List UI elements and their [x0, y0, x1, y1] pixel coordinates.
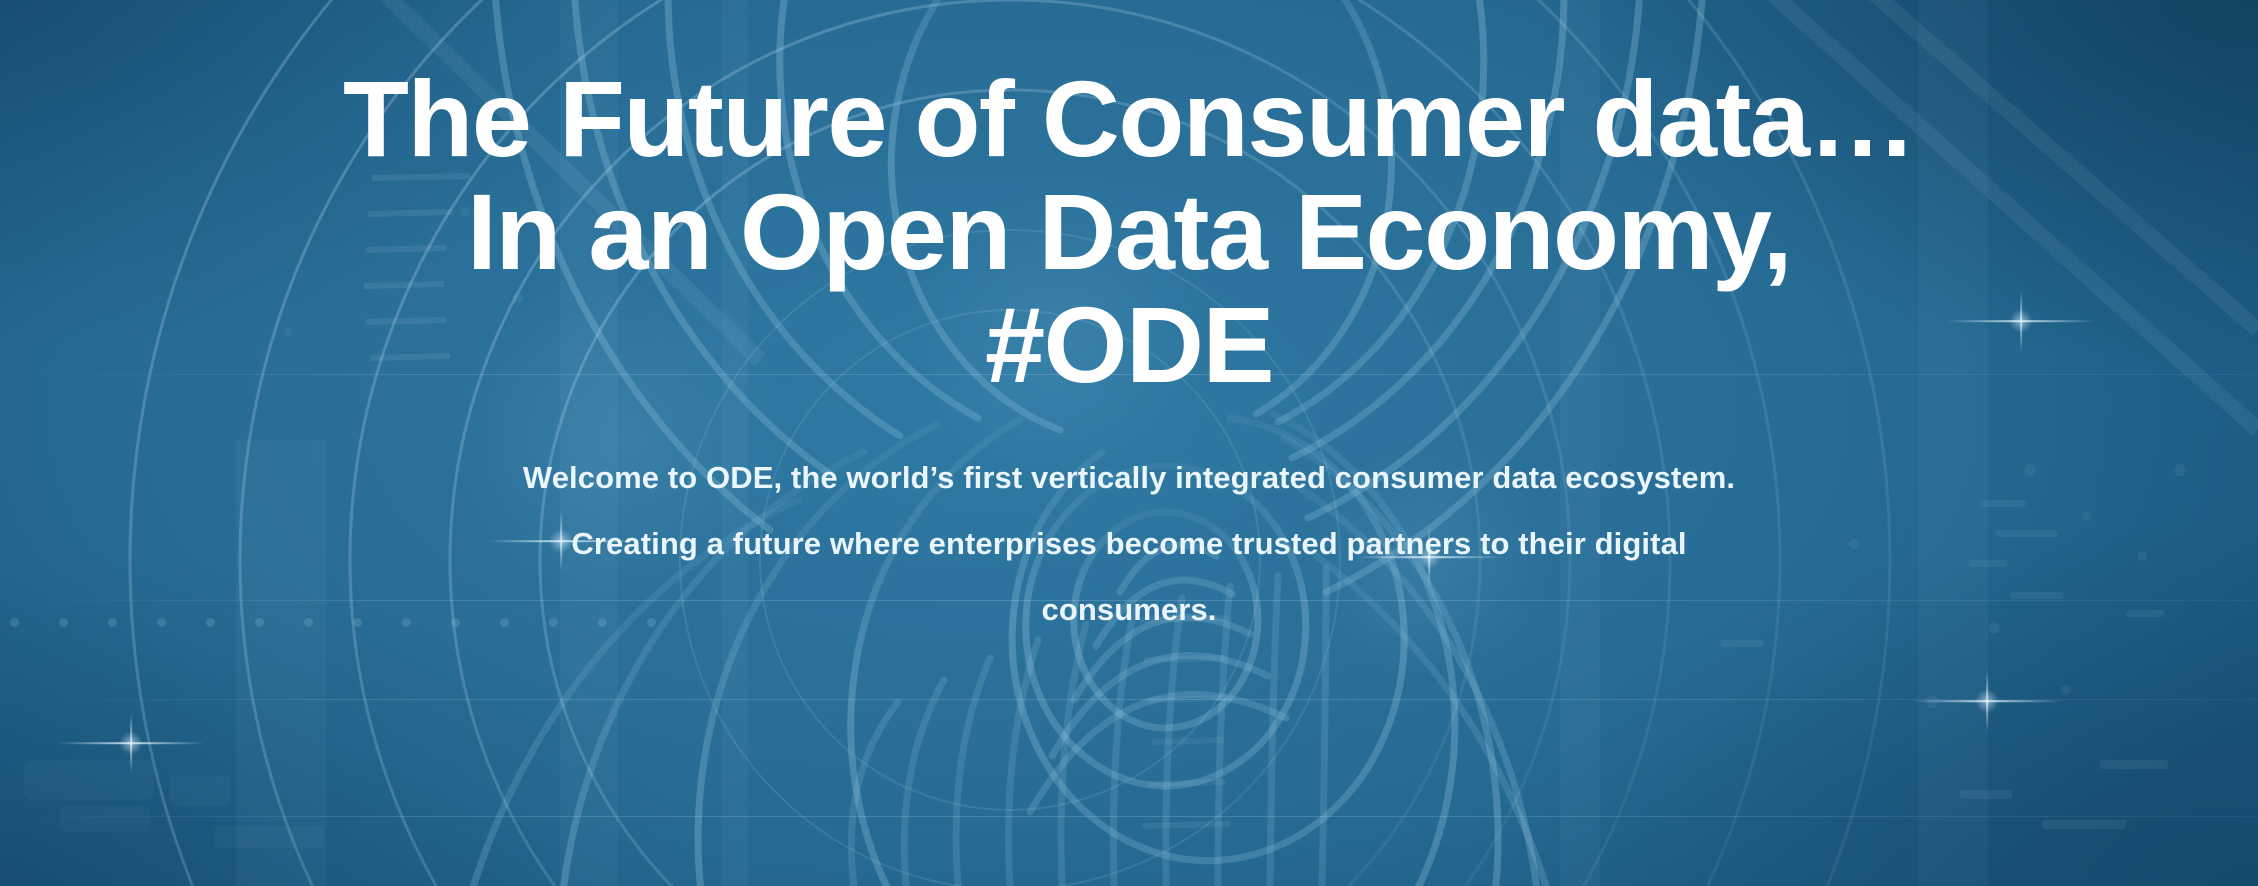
subtitle-line-3: consumers.	[269, 577, 1989, 643]
page-title: The Future of Consumer data… In an Open …	[39, 62, 2219, 401]
hero-subtitle: Welcome to ODE, the world’s first vertic…	[269, 445, 1989, 643]
headline-line-3: #ODE	[39, 288, 2219, 401]
hero-content: The Future of Consumer data… In an Open …	[0, 0, 2258, 886]
subtitle-line-2: Creating a future where enterprises beco…	[269, 511, 1989, 577]
hero-banner: The Future of Consumer data… In an Open …	[0, 0, 2258, 886]
headline-line-1: The Future of Consumer data…	[39, 62, 2219, 175]
subtitle-line-1: Welcome to ODE, the world’s first vertic…	[269, 445, 1989, 511]
headline-line-2: In an Open Data Economy,	[39, 175, 2219, 288]
